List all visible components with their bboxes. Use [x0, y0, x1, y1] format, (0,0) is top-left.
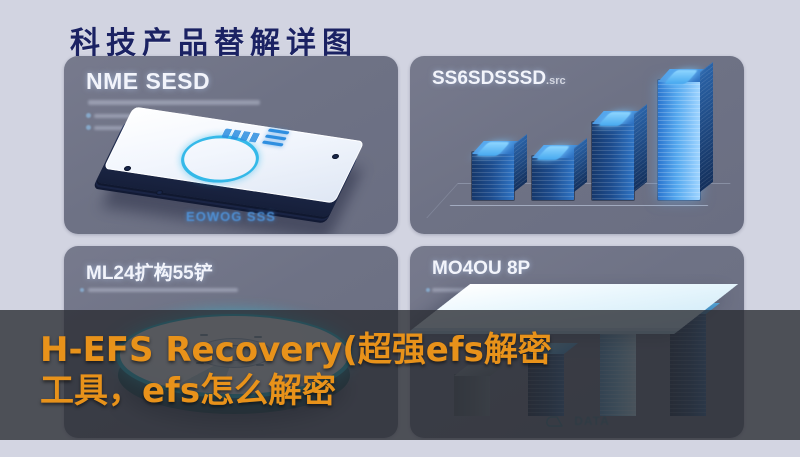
card-title-suffix: .src: [546, 75, 566, 87]
card-title-ssd-chart: SS6SDSSSD.src: [432, 68, 566, 90]
card-nvme-ssd[interactable]: NME SESD EOWOG SSS: [64, 56, 398, 234]
chart-baseline: [450, 205, 709, 206]
bar-chart-3d: [436, 90, 724, 222]
placeholder-text-line: [88, 100, 260, 105]
bottom-strip: [0, 440, 800, 457]
bullet-dot-icon: [86, 113, 91, 118]
card-title-disk: ML24扩构55铲: [86, 258, 213, 285]
overlay-title: H-EFS Recovery(超强efs解密 工具，efs怎么解密: [40, 330, 770, 412]
bullet-dot-icon: [86, 125, 91, 130]
card-ssd-bar-chart[interactable]: SS6SDSSSD.src: [410, 56, 744, 234]
chart-bar-highlighted: [658, 80, 700, 200]
bullet-dot-icon: [80, 288, 84, 292]
card-watermark-nvme: EOWOG SSS: [64, 209, 398, 224]
card-title-nvme: NME SESD: [86, 68, 210, 95]
chart-bar: [592, 122, 634, 200]
ssd-drive-illustration: [94, 112, 380, 224]
chart-bar: [472, 152, 514, 200]
card-title-text: SS6SDSSSD: [432, 68, 546, 89]
overlay-title-line-2: 工具，efs怎么解密: [40, 371, 770, 412]
screenshot-stage: 科技产品替解详图 NME SESD EOW: [0, 0, 800, 457]
overlay-title-line-1: H-EFS Recovery(超强efs解密: [40, 330, 770, 371]
bullet-dot-icon: [426, 288, 430, 292]
chart-bar: [532, 156, 574, 200]
